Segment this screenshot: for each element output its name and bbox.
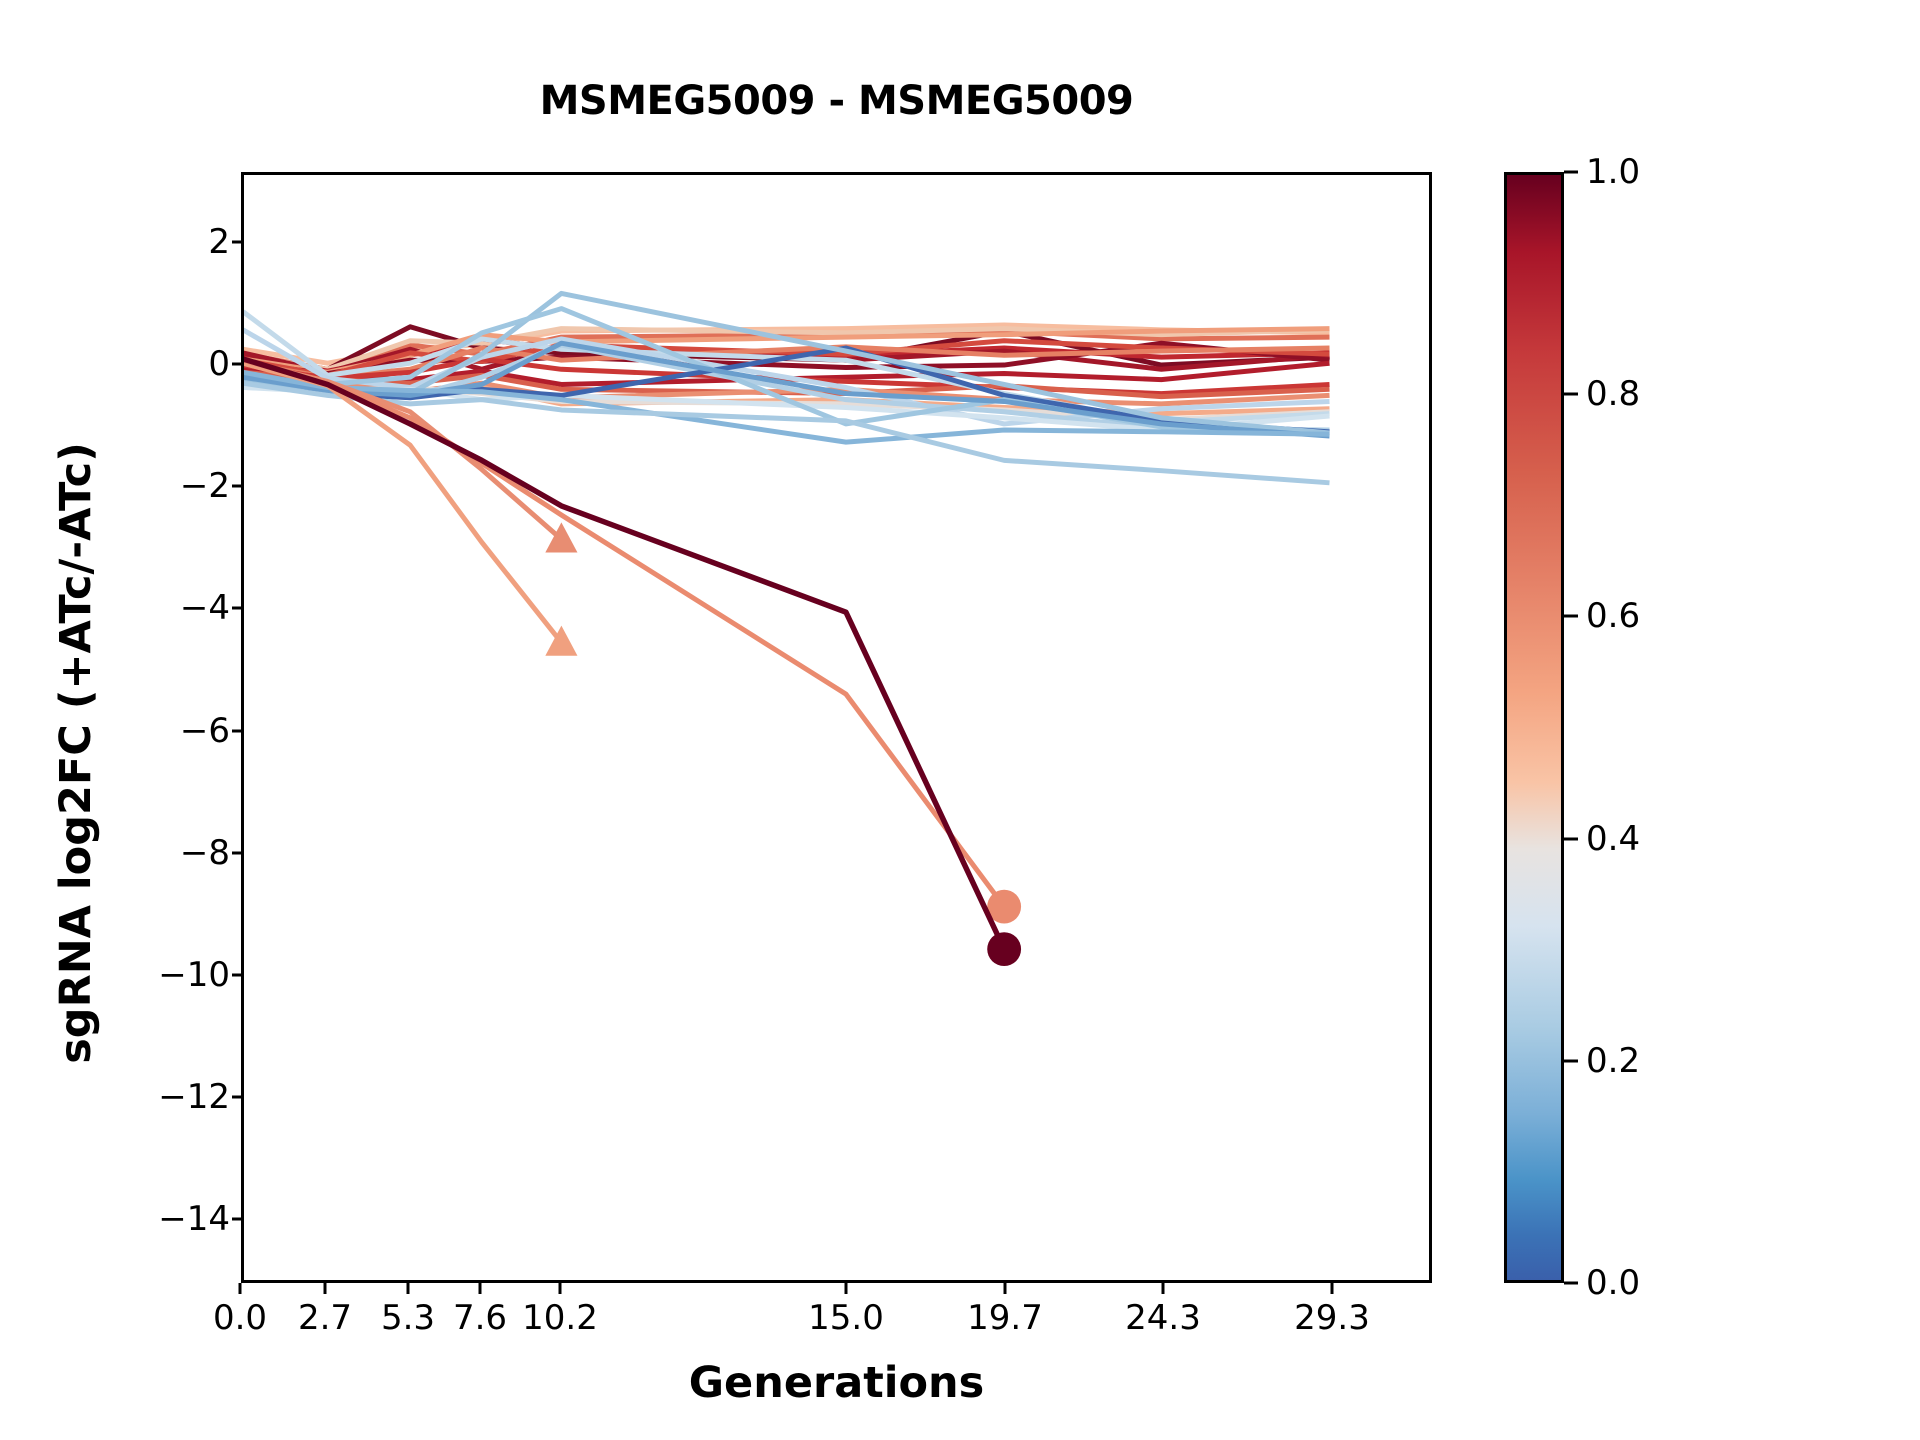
colorbar-tick-mark xyxy=(1564,615,1578,618)
x-tick-mark xyxy=(407,1283,410,1294)
y-tick-mark xyxy=(232,241,241,244)
y-tick-label: 2 xyxy=(208,222,230,262)
y-tick-mark xyxy=(232,363,241,366)
x-tick-mark xyxy=(1004,1283,1007,1294)
x-tick-label: 24.3 xyxy=(1125,1298,1201,1338)
y-tick-mark xyxy=(232,973,241,976)
y-tick-mark xyxy=(232,1095,241,1098)
y-tick-label: −4 xyxy=(180,588,230,628)
series-line xyxy=(244,360,1004,906)
y-tick-label: −6 xyxy=(180,711,230,751)
colorbar-tick-mark xyxy=(1564,837,1578,840)
x-tick-label: 2.7 xyxy=(298,1298,352,1338)
x-axis-label: Generations xyxy=(241,1358,1432,1408)
colorbar-tick-label: 0.6 xyxy=(1586,596,1640,636)
x-tick-mark xyxy=(239,1283,242,1294)
y-tick-label: −12 xyxy=(158,1077,230,1117)
x-tick-mark xyxy=(1162,1283,1165,1294)
x-tick-label: 15.0 xyxy=(808,1298,884,1338)
y-tick-mark xyxy=(232,851,241,854)
y-tick-label: −10 xyxy=(158,955,230,995)
y-tick-mark xyxy=(232,729,241,732)
y-tick-label: −2 xyxy=(180,466,230,506)
y-tick-label: 0 xyxy=(208,344,230,384)
x-tick-label: 29.3 xyxy=(1294,1298,1370,1338)
series-end-marker-circle xyxy=(987,932,1021,966)
x-tick-mark xyxy=(1331,1283,1334,1294)
colorbar-tick-mark xyxy=(1564,1282,1578,1285)
x-tick-label: 5.3 xyxy=(381,1298,435,1338)
y-tick-label: −14 xyxy=(158,1199,230,1239)
plot-lines-svg xyxy=(244,175,1429,1280)
y-axis-label: sgRNA log2FC (+ATc/-ATc) xyxy=(51,303,101,1203)
colorbar-gradient xyxy=(1504,172,1564,1283)
plot-area xyxy=(241,172,1432,1283)
colorbar-tick-label: 0.0 xyxy=(1586,1263,1640,1303)
colorbar-tick-mark xyxy=(1564,393,1578,396)
x-tick-mark xyxy=(324,1283,327,1294)
x-tick-label: 7.6 xyxy=(453,1298,507,1338)
page-title: MSMEG5009 - MSMEG5009 xyxy=(241,78,1432,124)
series-line xyxy=(244,359,1004,949)
colorbar-tick-label: 0.2 xyxy=(1586,1041,1640,1081)
x-tick-label: 19.7 xyxy=(967,1298,1043,1338)
colorbar-tick-label: 0.8 xyxy=(1586,374,1640,414)
y-tick-label: −8 xyxy=(180,833,230,873)
colorbar-tick-mark xyxy=(1564,1059,1578,1062)
colorbar-tick-label: 1.0 xyxy=(1586,152,1640,192)
x-tick-mark xyxy=(559,1283,562,1294)
colorbar-tick-mark xyxy=(1564,171,1578,174)
colorbar xyxy=(1504,172,1564,1283)
x-tick-mark xyxy=(845,1283,848,1294)
colorbar-tick-label: 0.4 xyxy=(1586,819,1640,859)
chart-page: MSMEG5009 - MSMEG5009 sgRNA log2FC (+ATc… xyxy=(0,0,1920,1440)
y-tick-mark xyxy=(232,607,241,610)
y-tick-mark xyxy=(232,485,241,488)
x-tick-label: 10.2 xyxy=(522,1298,598,1338)
y-tick-mark xyxy=(232,1217,241,1220)
x-tick-label: 0.0 xyxy=(213,1298,267,1338)
x-tick-mark xyxy=(479,1283,482,1294)
